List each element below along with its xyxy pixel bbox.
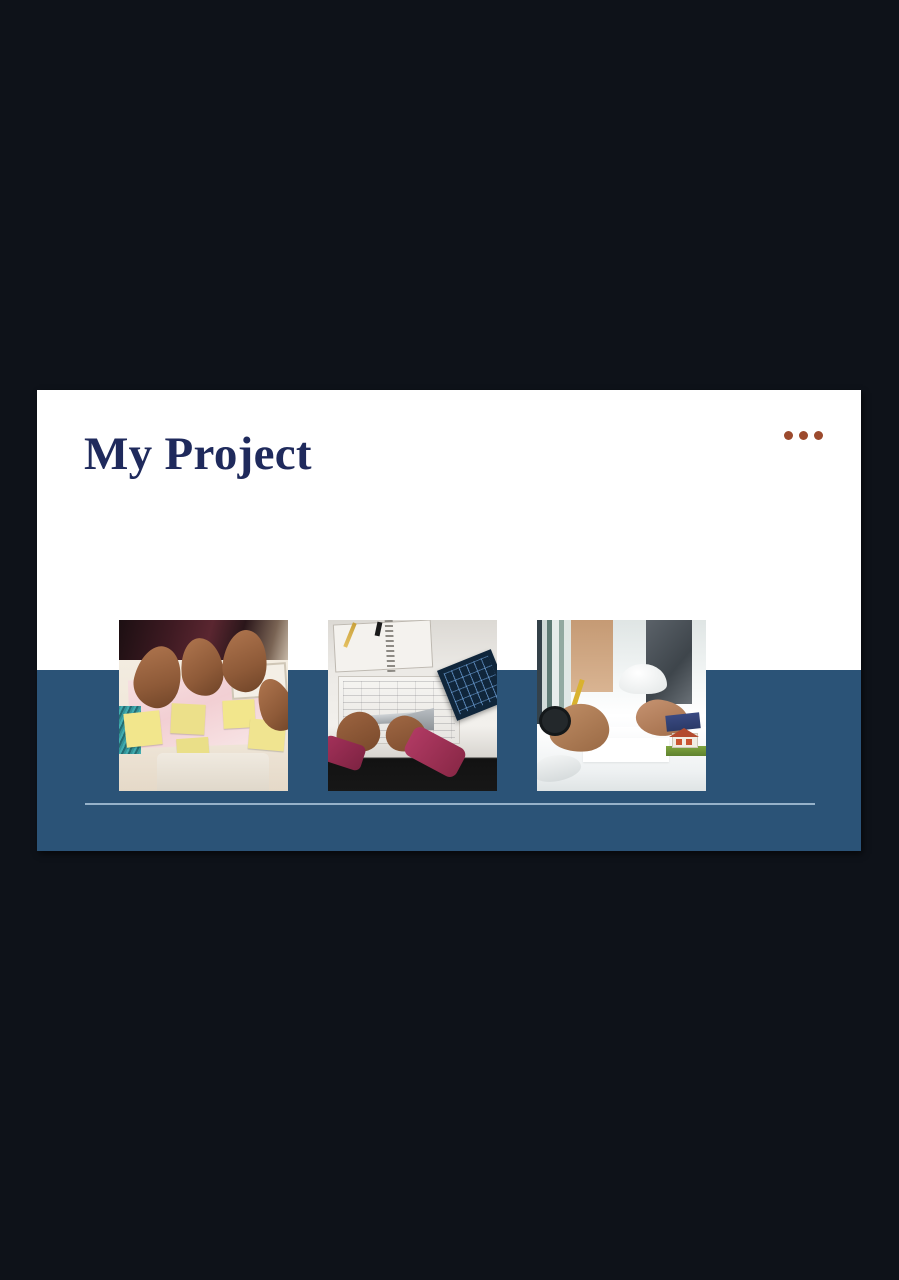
photo-3-model-house-window	[676, 739, 682, 745]
image-gallery	[119, 620, 707, 791]
photo-2-cad-drawing	[444, 656, 497, 715]
photo-1-sticky-note	[170, 703, 206, 735]
dot-icon	[784, 431, 793, 440]
page-title: My Project	[84, 430, 312, 479]
three-dots-icon	[784, 431, 823, 440]
photo-2-spiral-notebook	[333, 620, 433, 673]
photo-3-model-house-window	[686, 739, 692, 745]
photo-1-sticky-note	[123, 710, 162, 748]
photo-signing-plans[interactable]	[537, 620, 706, 791]
photo-team-sticky-notes[interactable]	[119, 620, 288, 791]
presentation-slide[interactable]: My Project	[37, 390, 861, 851]
horizontal-rule	[85, 803, 815, 805]
photo-3-standing-person	[571, 620, 613, 692]
dot-icon	[814, 431, 823, 440]
photo-1-laptop	[157, 753, 269, 791]
photo-3-wristwatch	[539, 706, 571, 736]
dot-icon	[799, 431, 808, 440]
photo-3-model-house	[666, 728, 706, 756]
photo-drafting-blueprints[interactable]	[328, 620, 497, 791]
